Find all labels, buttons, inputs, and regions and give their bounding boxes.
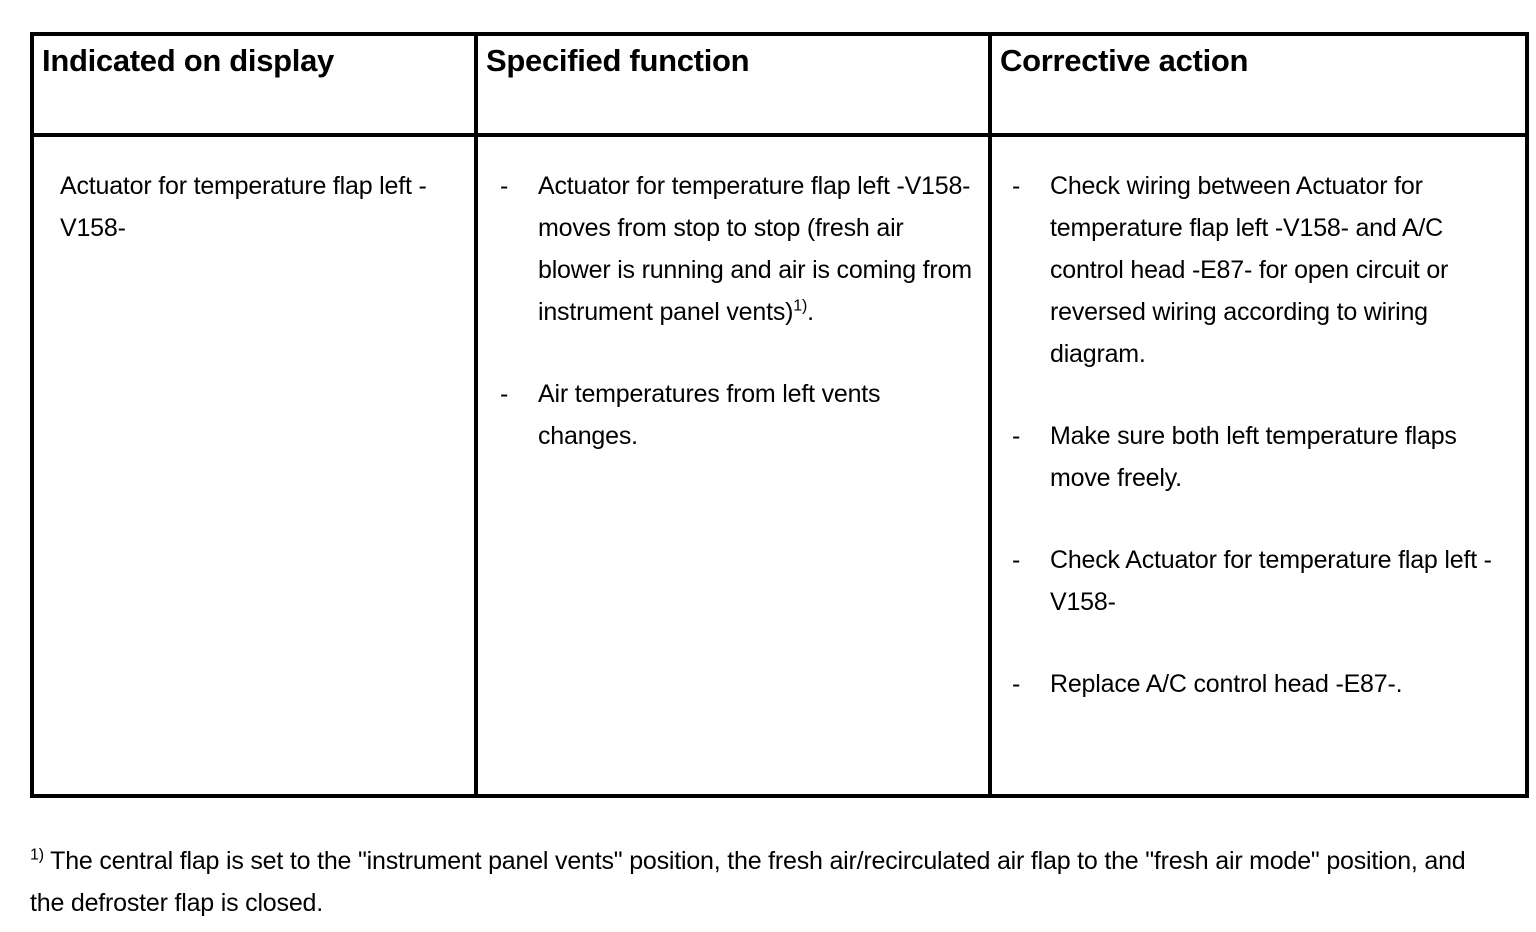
fault-diagnosis-table: Indicated on display Specified function … [30, 32, 1529, 798]
column-header-label: Corrective action [992, 36, 1525, 78]
list-item: - Check wiring between Actuator for temp… [1012, 165, 1511, 375]
bullet-dash-icon: - [1012, 539, 1042, 581]
cell-content: - Check wiring between Actuator for temp… [992, 137, 1525, 705]
list-item: - Check Actuator for temperature flap le… [1012, 539, 1511, 623]
list-item-text: Check wiring between Actuator for temper… [1050, 165, 1511, 375]
list-item: - Actuator for temperature flap left -V1… [500, 165, 974, 333]
header-cell-indicated-on-display: Indicated on display [32, 34, 476, 135]
list-item-trailing-text: . [807, 298, 814, 326]
cell-specified-function: - Actuator for temperature flap left -V1… [476, 135, 990, 796]
footnote-marker: 1) [30, 847, 44, 864]
list-item-text: Replace A/C control head -E87-. [1050, 663, 1511, 705]
cell-corrective-action: - Check wiring between Actuator for temp… [990, 135, 1527, 796]
cell-content: - Actuator for temperature flap left -V1… [478, 137, 988, 457]
footnote-text: The central flap is set to the "instrume… [30, 847, 1466, 917]
corrective-action-list: - Check wiring between Actuator for temp… [1012, 165, 1511, 705]
header-cell-specified-function: Specified function [476, 34, 990, 135]
column-header-label: Indicated on display [34, 36, 474, 78]
column-header-label: Specified function [478, 36, 988, 78]
bullet-dash-icon: - [1012, 415, 1042, 457]
list-item-text: Air temperatures from left vents changes… [538, 373, 974, 457]
list-item-main-text: Actuator for temperature flap left -V158… [538, 172, 972, 326]
document-page: Indicated on display Specified function … [0, 0, 1536, 932]
bullet-dash-icon: - [1012, 165, 1042, 207]
bullet-dash-icon: - [500, 165, 530, 207]
header-cell-corrective-action: Corrective action [990, 34, 1527, 135]
fault-description-text: Actuator for temperature flap left -V158… [60, 165, 460, 249]
bullet-dash-icon: - [1012, 663, 1042, 705]
list-item-text: Check Actuator for temperature flap left… [1050, 539, 1511, 623]
footnote-reference-marker: 1) [793, 298, 807, 315]
list-item: - Replace A/C control head -E87-. [1012, 663, 1511, 705]
list-item-text: Make sure both left temperature flaps mo… [1050, 415, 1511, 499]
footnote: 1) The central flap is set to the "instr… [30, 840, 1490, 924]
list-item: - Air temperatures from left vents chang… [500, 373, 974, 457]
table-row: Actuator for temperature flap left -V158… [32, 135, 1527, 796]
list-item-text: Actuator for temperature flap left -V158… [538, 165, 974, 333]
specified-function-list: - Actuator for temperature flap left -V1… [500, 165, 974, 457]
cell-content: Actuator for temperature flap left -V158… [34, 137, 474, 249]
table-header-row: Indicated on display Specified function … [32, 34, 1527, 135]
cell-indicated-on-display: Actuator for temperature flap left -V158… [32, 135, 476, 796]
bullet-dash-icon: - [500, 373, 530, 415]
list-item: - Make sure both left temperature flaps … [1012, 415, 1511, 499]
